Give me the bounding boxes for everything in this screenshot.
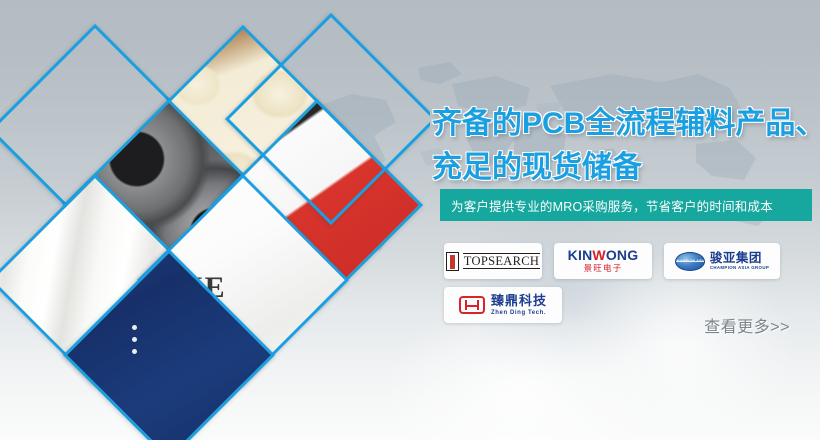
topsearch-label: TOPSEARCH [463, 253, 540, 269]
partner-logo-row-1: TOPSEARCH KINWONG 景旺电子 CHAMPION ASIA 骏亚集… [444, 243, 820, 279]
champion-label-cn: 骏亚集团 [710, 252, 769, 265]
zhen-ding-label-cn: 臻鼎科技 [491, 294, 547, 307]
kinwong-label-en-b: ONG [606, 247, 639, 263]
kinwong-label-en: KINWONG [568, 248, 639, 263]
headline-line-1: 齐备的PCB全流程辅料产品、 [432, 107, 820, 140]
partner-logo-zhen-ding[interactable]: 臻鼎科技 Zhen Ding Tech. [444, 287, 562, 323]
partner-logo-topsearch[interactable]: TOPSEARCH [444, 243, 542, 279]
champion-label-en: CHAMPION ASIA GROUP [710, 266, 769, 270]
banner-subtitle: 为客户提供专业的MRO采购服务，节省客户的时间和成本 [451, 196, 773, 215]
topsearch-mark-icon [446, 252, 459, 271]
view-more-link[interactable]: 查看更多>> [704, 313, 790, 337]
zhen-ding-mark-icon [459, 296, 485, 314]
headline-line-2: 充足的现货储备 [432, 146, 820, 190]
blue-panel-dots [123, 318, 137, 354]
product-photo-collage: JIE [0, 0, 430, 440]
globe-label: CHAMPION ASIA [675, 259, 705, 263]
banner-content: 齐备的PCB全流程辅料产品、 充足的现货储备 为客户提供专业的MRO采购服务，节… [432, 0, 820, 440]
globe-icon: CHAMPION ASIA [675, 252, 705, 271]
promo-banner: JIE 齐备的PCB全流程辅料产品、 充足的现货储备 为客户提供专业的MRO采购… [0, 0, 820, 440]
banner-headline: 齐备的PCB全流程辅料产品、 充足的现货储备 [432, 102, 820, 190]
partner-logo-kinwong[interactable]: KINWONG 景旺电子 [554, 243, 652, 279]
kinwong-w-glyph: W [592, 247, 605, 263]
kinwong-label-cn: 景旺电子 [584, 263, 623, 274]
banner-subtitle-band: 为客户提供专业的MRO采购服务，节省客户的时间和成本 [440, 189, 812, 221]
partner-logo-champion-asia[interactable]: CHAMPION ASIA 骏亚集团 CHAMPION ASIA GROUP [664, 243, 780, 279]
zhen-ding-label-en: Zhen Ding Tech. [491, 310, 547, 316]
kinwong-label-en-a: KIN [568, 247, 593, 263]
